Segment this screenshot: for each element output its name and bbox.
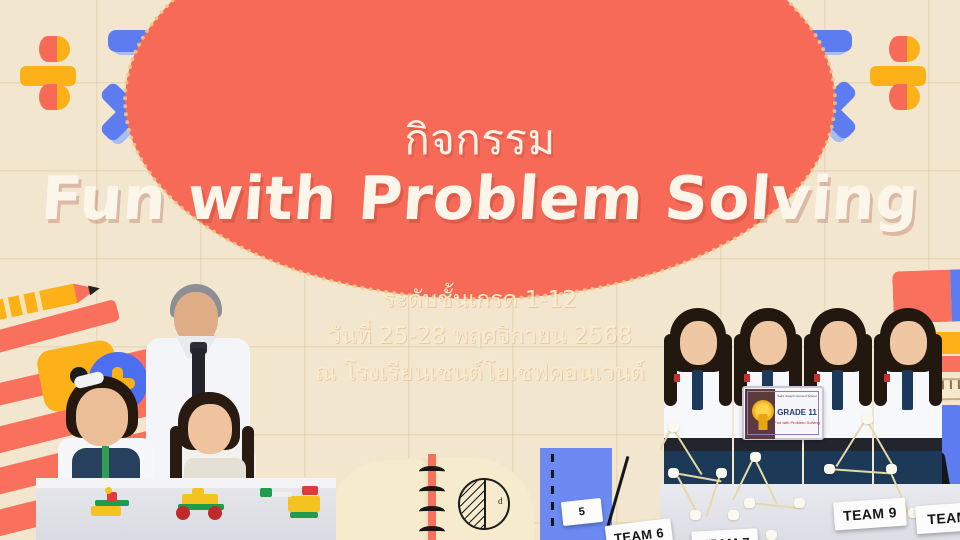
team-card-9: TEAM 9 [833,498,907,531]
certificate-grade-11: Saint Joseph Convent School GRADE 11 Fun… [742,386,824,440]
venue-line: ณ โรงเรียนเซนต์โยเซฟคอนเวนต์ [0,355,960,391]
thai-activity-label: กิจกรรม [0,118,960,162]
certificate-grade-right: GRADE 11 [744,408,822,417]
lego-model-3 [262,486,324,520]
details-block: ระดับชั้นเกรด 1-12 วันที่ 25-28 พฤศจิกาย… [0,282,960,391]
blue-dashed-panel [540,448,612,540]
notebook-icon: d [330,452,540,540]
certificate-header-right: Saint Joseph Convent School [744,394,822,398]
headline-block: กิจกรรม Fun with Problem Solving [0,118,960,232]
date-line: วันที่ 25-28 พฤศจิกายน 2568 [0,318,960,354]
lego-model-1 [91,492,137,518]
team-card-5: 5 [561,498,603,526]
certificate-subtitle-right: Fun with Problem Solving [744,420,822,425]
main-title: Fun with Problem Solving [0,166,960,232]
lego-model-2 [176,488,230,522]
marshmallow-tower-2 [740,450,830,540]
team-card-10: TEAM [915,502,960,534]
grade-range-line: ระดับชั้นเกรด 1-12 [0,282,960,318]
divide-icon-left [30,36,86,108]
poster-canvas: d [0,0,960,540]
notebook-diagram-label: d [498,496,503,506]
divide-icon-right [880,36,936,108]
